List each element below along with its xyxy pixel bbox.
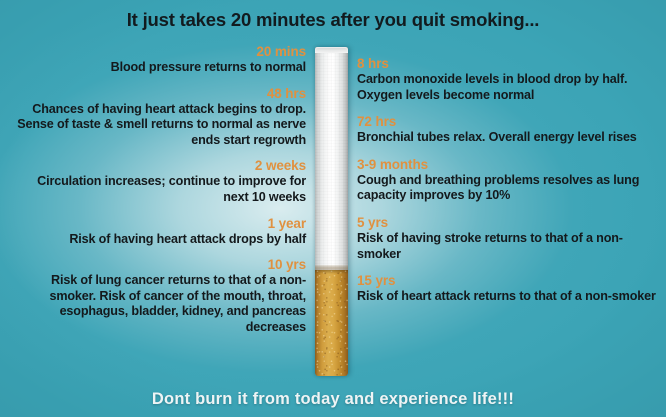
timeline-entry: 10 yrs Risk of lung cancer returns to th… [10, 257, 306, 335]
timeline-description: Risk of lung cancer returns to that of a… [10, 273, 306, 335]
timeline-entry: 3-9 months Cough and breathing problems … [357, 157, 657, 204]
timeline-stamp: 48 hrs [10, 86, 306, 102]
timeline-stamp: 10 yrs [10, 257, 306, 273]
footer-slogan: Dont burn it from today and experience l… [0, 390, 666, 409]
timeline-entry: 48 hrs Chances of having heart attack be… [10, 86, 306, 149]
timeline-entry: 8 hrs Carbon monoxide levels in blood dr… [357, 56, 657, 103]
timeline-description: Risk of having stroke returns to that of… [357, 231, 657, 262]
timeline-description: Circulation increases; continue to impro… [10, 174, 306, 205]
timeline-entry: 5 yrs Risk of having stroke returns to t… [357, 215, 657, 262]
timeline-description: Bronchial tubes relax. Overall energy le… [357, 130, 657, 146]
timeline-description: Carbon monoxide levels in blood drop by … [357, 72, 657, 103]
timeline-stamp: 5 yrs [357, 215, 657, 231]
cigarette-paper [315, 47, 348, 272]
cigarette-tip [315, 47, 348, 53]
timeline-stamp: 2 weeks [10, 158, 306, 174]
timeline-entry: 2 weeks Circulation increases; continue … [10, 158, 306, 205]
timeline-column-left: 20 mins Blood pressure returns to normal… [10, 44, 306, 346]
page-title: It just takes 20 minutes after you quit … [0, 9, 666, 31]
timeline-stamp: 3-9 months [357, 157, 657, 173]
timeline-stamp: 8 hrs [357, 56, 657, 72]
timeline-description: Risk of heart attack returns to that of … [357, 289, 657, 305]
infographic-poster: It just takes 20 minutes after you quit … [0, 0, 666, 417]
cigarette-filter [315, 270, 348, 376]
timeline-description: Cough and breathing problems resolves as… [357, 173, 657, 204]
timeline-description: Blood pressure returns to normal [10, 60, 306, 76]
timeline-stamp: 72 hrs [357, 114, 657, 130]
timeline-description: Chances of having heart attack begins to… [10, 102, 306, 149]
timeline-stamp: 20 mins [10, 44, 306, 60]
timeline-entry: 15 yrs Risk of heart attack returns to t… [357, 273, 657, 305]
timeline-entry: 1 year Risk of having heart attack drops… [10, 216, 306, 248]
timeline-description: Risk of having heart attack drops by hal… [10, 232, 306, 248]
timeline-stamp: 1 year [10, 216, 306, 232]
timeline-stamp: 15 yrs [357, 273, 657, 289]
timeline-entry: 20 mins Blood pressure returns to normal [10, 44, 306, 76]
timeline-column-right: 8 hrs Carbon monoxide levels in blood dr… [357, 56, 657, 316]
timeline-entry: 72 hrs Bronchial tubes relax. Overall en… [357, 114, 657, 146]
cigarette-graphic [315, 47, 348, 376]
